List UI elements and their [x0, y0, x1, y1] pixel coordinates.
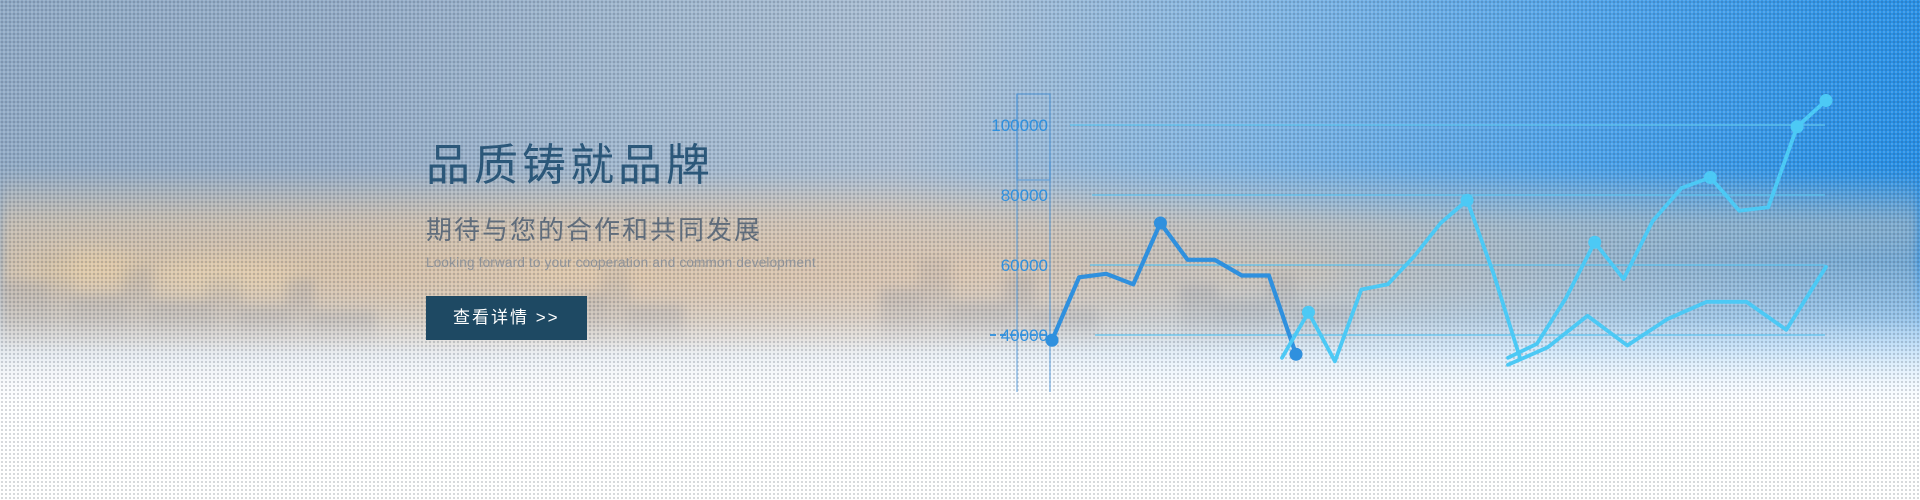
banner-subheadline: 期待与您的合作和共同发展 [426, 210, 986, 247]
hero-banner: 品质铸就品牌 期待与您的合作和共同发展 Looking forward to y… [0, 0, 1920, 500]
banner-copy: 品质铸就品牌 期待与您的合作和共同发展 Looking forward to y… [426, 140, 986, 340]
view-details-button[interactable]: 查看详情 >> [426, 296, 587, 340]
banner-subheadline-english: Looking forward to your cooperation and … [426, 255, 986, 270]
banner-headline: 品质铸就品牌 [426, 140, 986, 192]
